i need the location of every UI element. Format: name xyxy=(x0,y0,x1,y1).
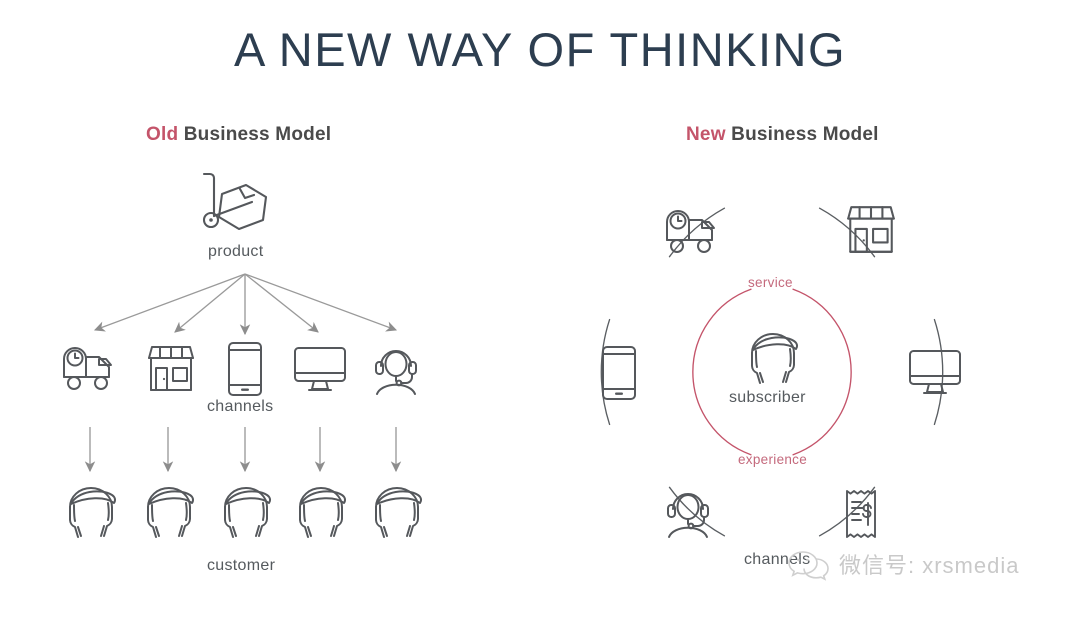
wechat-watermark: 微信号: xrsmedia xyxy=(786,547,1019,581)
experience-label: experience xyxy=(738,452,807,467)
subscriber-label: subscriber xyxy=(729,389,806,407)
desktop-monitor-icon xyxy=(907,348,963,398)
support-agent-headset-icon xyxy=(662,485,714,539)
service-label: service xyxy=(748,275,793,290)
mobile-phone-icon xyxy=(599,344,639,402)
slide-canvas: A NEW WAY OF THINKING Old Business Model… xyxy=(0,0,1080,620)
wechat-logo-icon xyxy=(786,547,830,581)
receipt-dollar-icon xyxy=(842,487,882,541)
person-head-icon xyxy=(744,331,802,387)
inner-service-experience-ring xyxy=(0,0,1080,620)
delivery-truck-icon xyxy=(663,206,725,258)
watermark-text: 微信号: xrsmedia xyxy=(839,548,1019,580)
storefront-icon xyxy=(843,202,899,258)
